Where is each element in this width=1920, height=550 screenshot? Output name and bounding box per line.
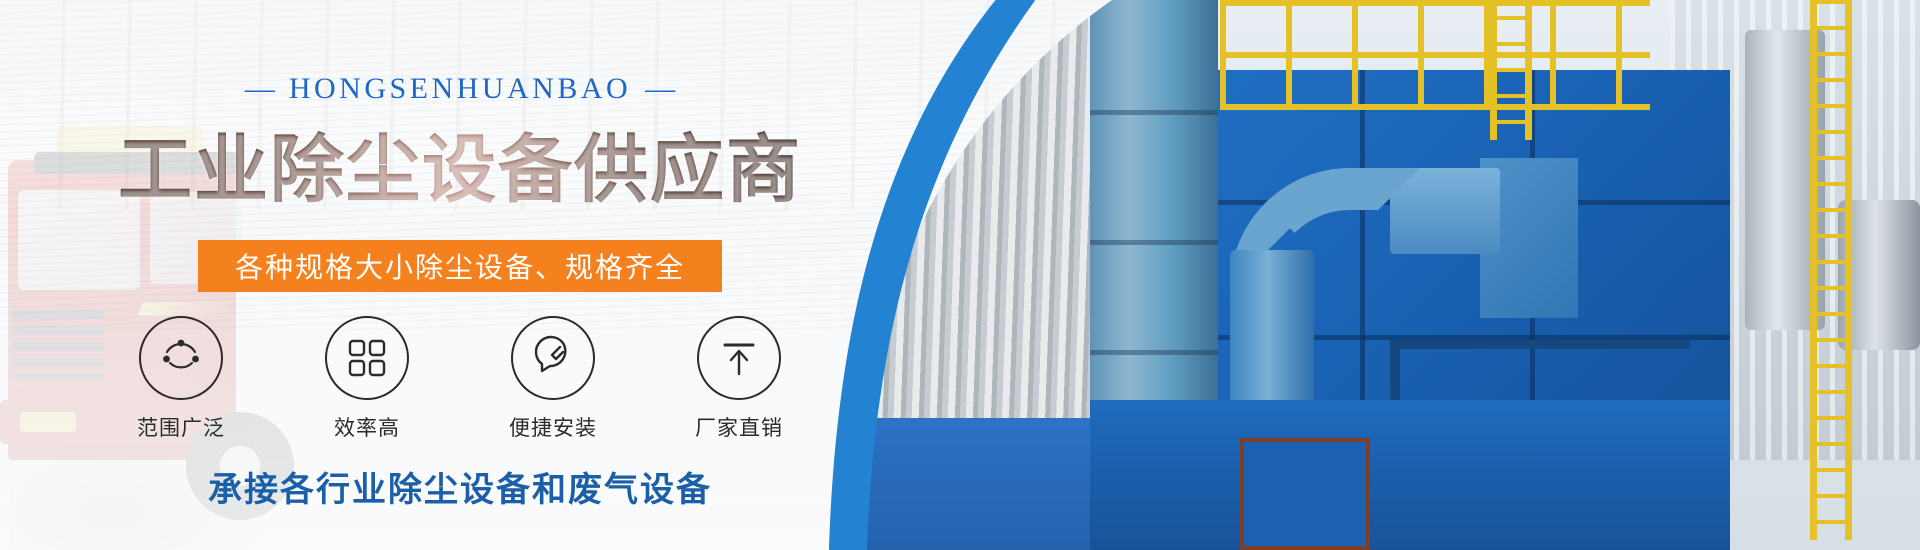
feature-item-coverage[interactable]: 范围广泛 [115, 316, 247, 442]
highlight-bar: 各种规格大小除尘设备、规格齐全 [198, 240, 722, 292]
feature-icon-circle [325, 316, 409, 400]
feature-icon-circle [139, 316, 223, 400]
photo-stack-band [1090, 240, 1218, 245]
eyebrow-dash-right: — [631, 72, 689, 105]
network-nodes-icon [158, 335, 204, 381]
eyebrow-text: —HONGSENHUANBAO— [0, 72, 920, 106]
eyebrow-dash-left: — [231, 72, 289, 105]
eyebrow-brand: HONGSENHUANBAO [289, 72, 631, 105]
tagline-text: 承接各行业除尘设备和废气设备 [0, 462, 920, 511]
photo-access-door [1240, 438, 1370, 550]
photo-scaffolding [1220, 0, 1650, 110]
arrow-up-to-line-icon [717, 336, 761, 380]
page-title: 工业除尘设备供应商 [0, 110, 920, 217]
photo-hopper-housing [1090, 400, 1730, 550]
banner-content: —HONGSENHUANBAO— 工业除尘设备供应商 各种规格大小除尘设备、规格… [0, 0, 980, 550]
photo-stack-band [1090, 110, 1218, 115]
photo-exhaust-stack [1090, 0, 1218, 440]
feature-label: 效率高 [301, 412, 433, 442]
photo-ladder [1490, 0, 1532, 140]
feature-list: 范围广泛 效率高 [0, 316, 920, 442]
feature-label: 厂家直销 [673, 412, 805, 442]
feature-item-direct-sales[interactable]: 厂家直销 [673, 316, 805, 442]
wrench-icon [530, 335, 576, 381]
grid-four-squares-icon [346, 337, 388, 379]
feature-icon-circle [511, 316, 595, 400]
photo-stack-band [1090, 350, 1218, 355]
feature-label: 范围广泛 [115, 412, 247, 442]
photo-ladder [1810, 0, 1852, 540]
feature-item-efficiency[interactable]: 效率高 [301, 316, 433, 442]
feature-item-installation[interactable]: 便捷安装 [487, 316, 619, 442]
feature-label: 便捷安装 [487, 412, 619, 442]
hero-banner: —HONGSENHUANBAO— 工业除尘设备供应商 各种规格大小除尘设备、规格… [0, 0, 1920, 550]
feature-icon-circle [697, 316, 781, 400]
highlight-bar-text: 各种规格大小除尘设备、规格齐全 [235, 246, 685, 286]
